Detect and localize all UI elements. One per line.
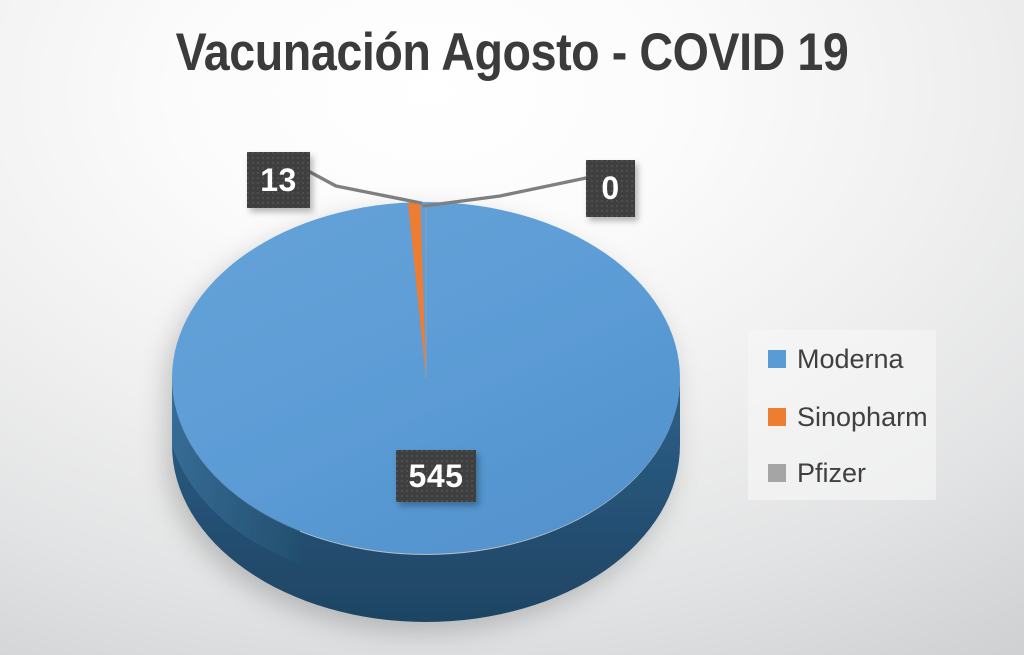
leader-line-sinopharm xyxy=(310,172,421,203)
data-label-pfizer[interactable]: 0 xyxy=(586,160,635,217)
legend-label-pfizer: Pfizer xyxy=(797,460,866,487)
pie-3d-body xyxy=(172,202,680,622)
data-label-sinopharm[interactable]: 13 xyxy=(247,152,310,208)
legend-item-moderna[interactable]: Moderna xyxy=(768,344,904,374)
legend-item-sinopharm[interactable]: Sinopharm xyxy=(768,402,928,432)
legend-item-pfizer[interactable]: Pfizer xyxy=(768,458,866,488)
data-label-moderna[interactable]: 545 xyxy=(396,450,476,502)
legend-swatch-moderna-icon xyxy=(768,350,786,368)
legend-label-sinopharm: Sinopharm xyxy=(797,404,928,431)
legend-swatch-pfizer-icon xyxy=(768,464,786,482)
pie-chart-plot-area[interactable]: 13 0 545 Moderna Sinopharm Pfizer xyxy=(0,0,1024,655)
legend-swatch-sinopharm-icon xyxy=(768,408,786,426)
leader-line-pfizer xyxy=(424,178,586,206)
legend-label-moderna: Moderna xyxy=(797,346,904,373)
slide-canvas: Vacunación Agosto - COVID 19 xyxy=(0,0,1024,655)
chart-legend[interactable]: Moderna Sinopharm Pfizer xyxy=(748,330,936,500)
pie-chart-graphic xyxy=(0,0,1024,655)
